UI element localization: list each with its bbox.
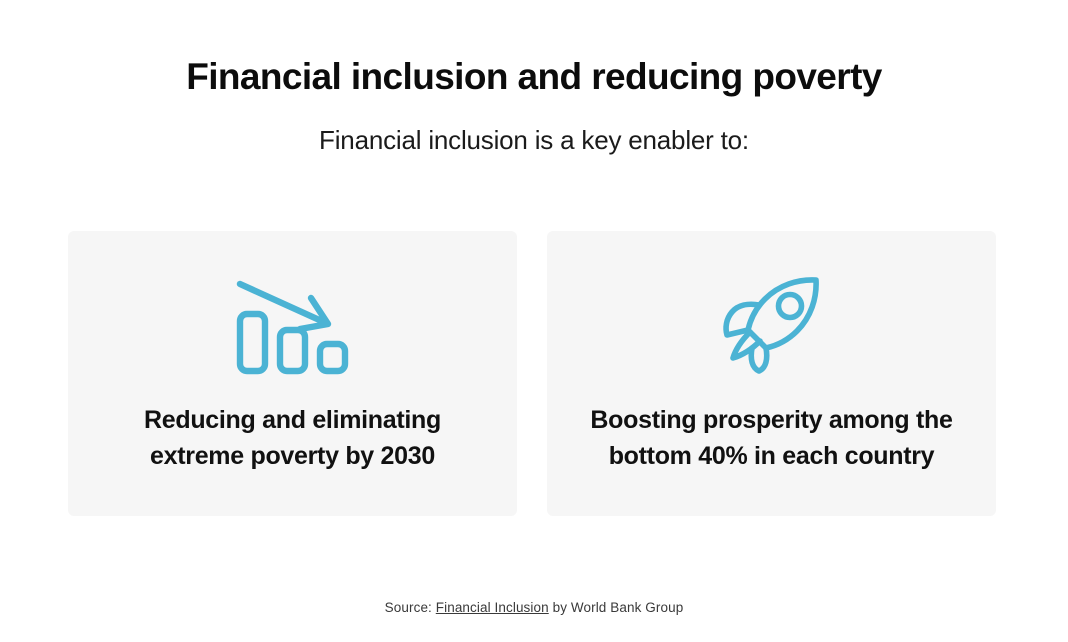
card-label: Reducing and eliminating extreme poverty… — [68, 403, 517, 474]
card-group: Reducing and eliminating extreme poverty… — [68, 231, 996, 516]
rocket-icon — [720, 269, 824, 379]
card-label: Boosting prosperity among the bottom 40%… — [547, 403, 996, 474]
declining-bar-chart-icon — [234, 269, 352, 379]
page-subtitle: Financial inclusion is a key enabler to: — [0, 125, 1068, 156]
slide: Financial inclusion and reducing poverty… — [0, 0, 1068, 642]
card-boosting-prosperity[interactable]: Boosting prosperity among the bottom 40%… — [547, 231, 996, 516]
source-suffix: by World Bank Group — [553, 600, 684, 615]
source-link[interactable]: Financial Inclusion — [436, 600, 549, 615]
source-attribution: Source: Financial Inclusion by World Ban… — [0, 600, 1068, 615]
source-prefix: Source: — [385, 600, 432, 615]
page-title: Financial inclusion and reducing poverty — [0, 56, 1068, 99]
header: Financial inclusion and reducing poverty… — [0, 0, 1068, 156]
card-reducing-poverty[interactable]: Reducing and eliminating extreme poverty… — [68, 231, 517, 516]
